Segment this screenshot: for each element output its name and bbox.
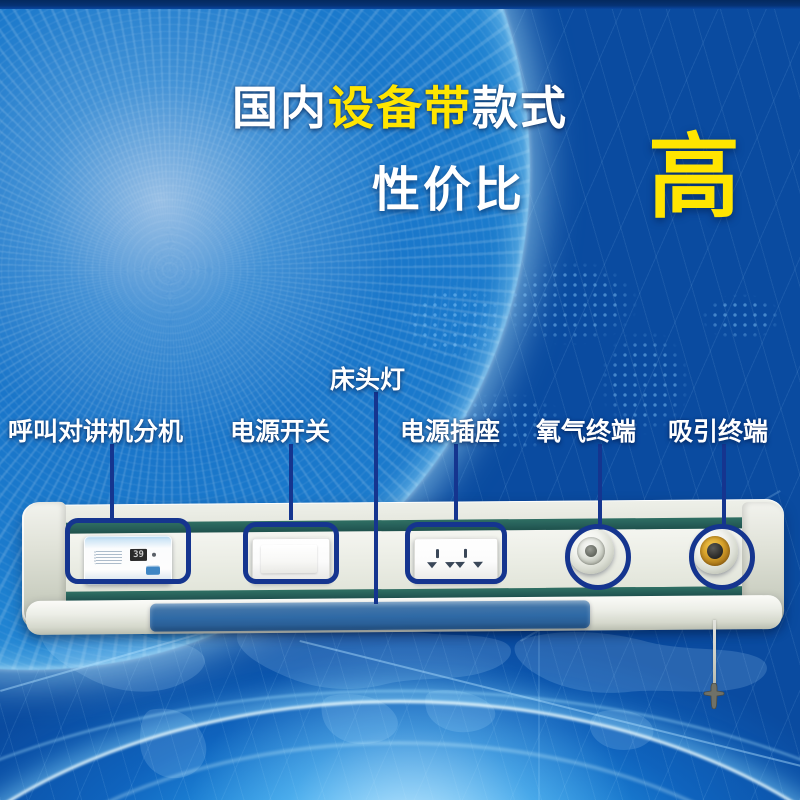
callout-label-power-socket: 电源插座 xyxy=(400,412,500,448)
halftone-world-map-dots xyxy=(380,250,800,490)
intercom-unit[interactable]: 39 xyxy=(84,536,172,585)
intercom-call-button[interactable] xyxy=(146,566,160,575)
headline-line-1: 国内设备带款式 xyxy=(0,84,800,132)
power-socket-unit[interactable] xyxy=(414,538,498,583)
headline-block: 国内设备带款式 性价比 高 xyxy=(0,84,800,226)
headline-line-2-wrap: 性价比 高 xyxy=(0,146,800,226)
leader-line-intercom xyxy=(110,444,114,519)
socket-pin-icon-1 xyxy=(436,549,439,558)
headline-text-white-2: 款式 xyxy=(472,82,568,134)
bottom-light-glow xyxy=(180,640,640,800)
headline-line-2: 性价比 xyxy=(372,150,525,220)
callout-label-intercom: 呼叫对讲机分机 xyxy=(8,412,183,448)
status-led-icon xyxy=(152,553,156,557)
speaker-grille-icon xyxy=(94,550,122,564)
socket-prong-icon-3 xyxy=(455,562,465,568)
bed-lamp-diffuser[interactable] xyxy=(150,600,590,631)
bed-head-unit: 39 xyxy=(0,490,800,660)
rocker-switch-icon[interactable] xyxy=(261,545,317,573)
leader-line-bed-lamp xyxy=(374,392,378,604)
socket-pin-icon-2 xyxy=(464,549,467,558)
pull-cord-line[interactable] xyxy=(713,620,716,690)
leader-line-power-socket xyxy=(454,444,458,520)
socket-prong-icon-1 xyxy=(427,562,437,568)
callout-label-suction: 吸引终端 xyxy=(668,412,768,448)
callout-label-bed-lamp: 床头灯 xyxy=(330,360,405,396)
callout-label-oxygen: 氧气终端 xyxy=(536,412,636,448)
highlight-oxygen xyxy=(565,524,631,590)
socket-prong-icon-2 xyxy=(445,562,455,568)
power-switch-unit[interactable] xyxy=(252,538,330,583)
socket-prong-icon-4 xyxy=(473,562,483,568)
pull-cord-icon[interactable] xyxy=(703,683,725,709)
top-dark-band xyxy=(0,0,800,9)
leader-line-power-switch xyxy=(289,444,293,520)
highlight-suction xyxy=(689,524,755,590)
intercom-display: 39 xyxy=(130,549,147,561)
leader-line-suction xyxy=(722,444,726,524)
callout-label-power-switch: 电源开关 xyxy=(230,412,330,448)
headline-emphasis-word: 高 xyxy=(648,132,740,224)
leader-line-oxygen xyxy=(598,444,602,524)
headline-text-white-1: 国内 xyxy=(232,82,328,134)
headline-text-highlight: 设备带 xyxy=(328,82,472,134)
